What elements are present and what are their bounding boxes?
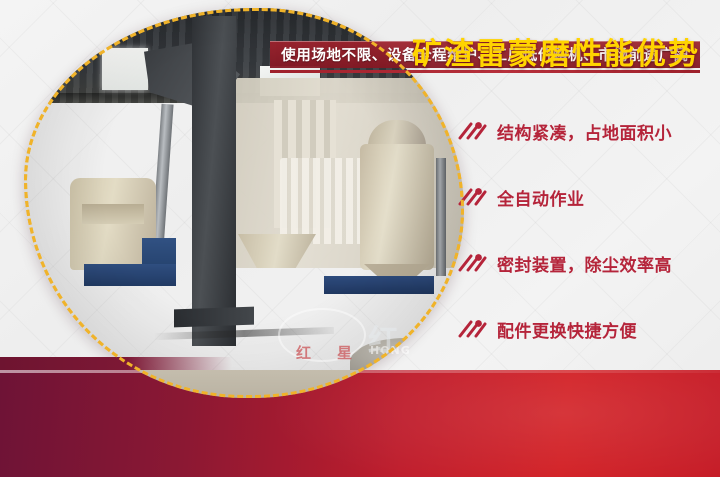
- double-chevron-icon: [458, 252, 488, 274]
- feature-item-2: 全自动作业: [458, 164, 708, 230]
- footer-title: 矿渣雷蒙磨性能优势: [412, 29, 700, 73]
- bottom-accent-strip: [0, 357, 232, 370]
- promo-banner-stage: 红星 红 HONG 使用场地不限、设备全程维护、工厂低价购机、市场前途广阔 结构…: [0, 0, 720, 477]
- bottom-bar-highlight: [0, 370, 720, 373]
- bottom-title-bar: [0, 370, 720, 477]
- feature-item-4: 配件更换快捷方便: [458, 296, 708, 362]
- double-chevron-icon: [458, 186, 488, 208]
- feature-item-3: 密封装置，除尘效率高: [458, 230, 708, 296]
- feature-label: 全自动作业: [497, 185, 585, 210]
- feature-label: 结构紧凑，占地面积小: [497, 119, 672, 144]
- feature-label: 配件更换快捷方便: [497, 317, 637, 342]
- double-chevron-icon: [458, 120, 488, 142]
- feature-item-1: 结构紧凑，占地面积小: [458, 98, 708, 164]
- feature-label: 密封装置，除尘效率高: [497, 251, 672, 276]
- double-chevron-icon: [458, 318, 488, 340]
- feature-list: 结构紧凑，占地面积小 全自动作业: [458, 98, 708, 362]
